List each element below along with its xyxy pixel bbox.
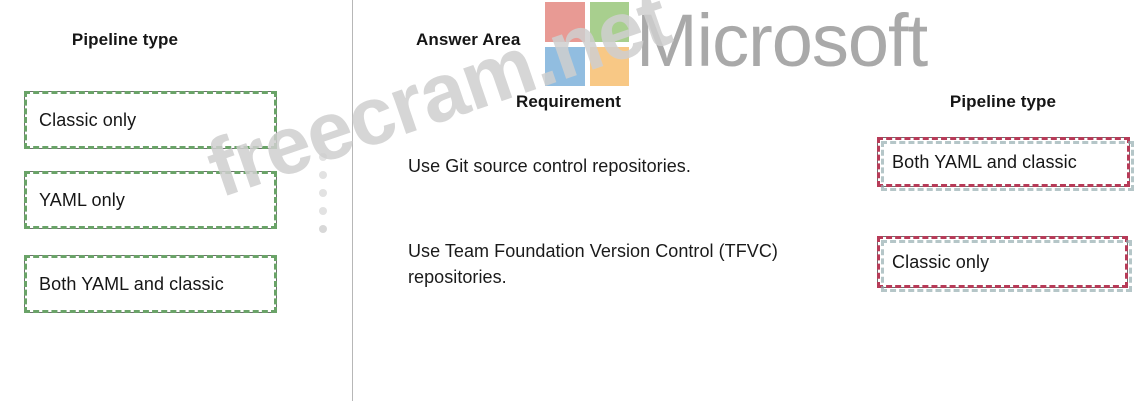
logo-square-bottom-left (545, 47, 585, 87)
dot-icon (319, 189, 327, 197)
requirement-row-2-text: Use Team Foundation Version Control (TFV… (408, 238, 848, 290)
drag-handle-dots-icon (317, 153, 329, 233)
answer-area-title: Answer Area (416, 30, 520, 50)
answer-dropzone-label: Classic only (892, 252, 989, 273)
drag-option-classic-only[interactable]: Classic only (24, 91, 277, 149)
drag-option-label: YAML only (39, 190, 125, 211)
dot-icon (319, 225, 327, 233)
microsoft-logo-icon (545, 2, 629, 86)
answer-dropzone-row-1[interactable]: Both YAML and classic (877, 137, 1130, 187)
dot-icon (319, 153, 327, 161)
logo-square-bottom-right (590, 47, 630, 87)
microsoft-wordmark: Microsoft (636, 0, 927, 83)
logo-square-top-left (545, 2, 585, 42)
answer-dropzone-label: Both YAML and classic (892, 152, 1077, 173)
drag-option-yaml-only[interactable]: YAML only (24, 171, 277, 229)
pipeline-type-column-header: Pipeline type (877, 92, 1129, 112)
drag-option-label: Both YAML and classic (39, 274, 224, 295)
dot-icon (319, 171, 327, 179)
requirement-row-1-text: Use Git source control repositories. (408, 153, 848, 179)
logo-square-top-right (590, 2, 630, 42)
panel-divider (352, 0, 353, 401)
left-panel-header: Pipeline type (0, 30, 250, 50)
question-canvas: Pipeline type Classic only YAML only Bot… (0, 0, 1134, 401)
drag-option-label: Classic only (39, 110, 136, 131)
dot-icon (319, 207, 327, 215)
requirement-column-header: Requirement (516, 92, 621, 112)
answer-dropzone-row-2[interactable]: Classic only (877, 236, 1128, 288)
drag-option-both-yaml-and-classic[interactable]: Both YAML and classic (24, 255, 277, 313)
